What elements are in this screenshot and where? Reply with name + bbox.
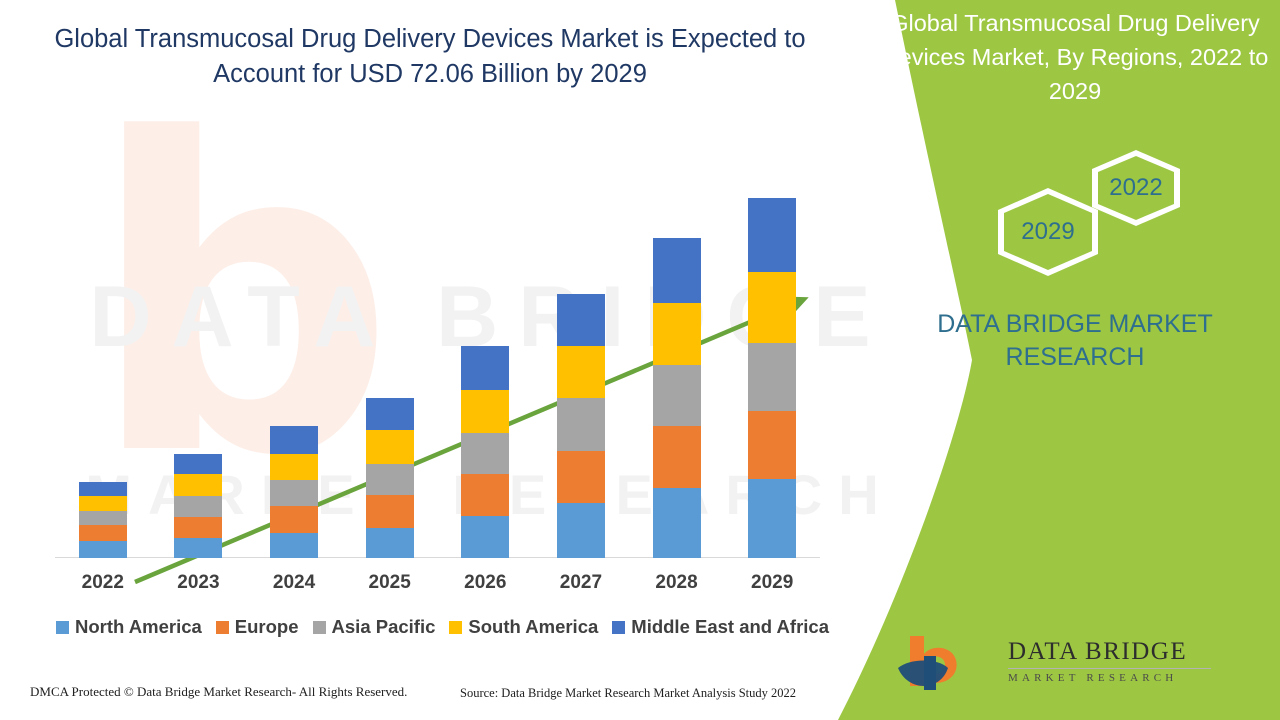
bar-segment — [270, 506, 318, 533]
bar-column — [461, 346, 509, 558]
legend-label: Europe — [235, 616, 299, 638]
x-axis-label: 2028 — [629, 572, 725, 594]
bar-column — [653, 238, 701, 558]
bar-segment — [653, 303, 701, 365]
bar-segment — [557, 346, 605, 398]
bar-column — [748, 198, 796, 558]
x-axis-label: 2027 — [533, 572, 629, 594]
bar-column — [557, 294, 605, 558]
legend-item: North America — [56, 616, 202, 638]
bar-segment — [270, 480, 318, 506]
bar-segment — [174, 517, 222, 538]
bar-segment — [366, 464, 414, 495]
bar-segment — [174, 538, 222, 558]
bar-segment — [461, 390, 509, 433]
bar-segment — [79, 496, 127, 511]
hexagon-badge-2029: 2029 — [998, 188, 1098, 276]
bar-column — [174, 454, 222, 558]
bar-segment — [557, 398, 605, 451]
bar-segment — [653, 426, 701, 488]
legend-item: Middle East and Africa — [612, 616, 829, 638]
panel-title: Global Transmucosal Drug Delivery Device… — [880, 6, 1270, 108]
bar-column — [270, 426, 318, 558]
hexagon-badge-2022: 2022 — [1092, 150, 1180, 226]
bar-segment — [366, 430, 414, 464]
bar-segment — [461, 474, 509, 516]
legend-swatch-icon — [216, 621, 229, 634]
bar-segment — [748, 411, 796, 479]
bar-segment — [557, 294, 605, 346]
bar-segment — [366, 398, 414, 430]
x-axis-label: 2023 — [150, 572, 246, 594]
data-bridge-logo-mark — [890, 630, 1000, 696]
legend-item: South America — [449, 616, 598, 638]
legend-swatch-icon — [313, 621, 326, 634]
legend-item: Europe — [216, 616, 299, 638]
x-axis-label: 2026 — [437, 572, 533, 594]
bar-segment — [653, 238, 701, 303]
bar-segment — [748, 343, 796, 411]
logo-divider — [1008, 668, 1211, 669]
legend-label: North America — [75, 616, 202, 638]
bar-segment — [748, 198, 796, 272]
bar-segment — [270, 454, 318, 480]
data-bridge-logo-text: DATA BRIDGE MARKET RESEARCH — [1008, 638, 1211, 684]
infographic-canvas: b DATA BRIDGE MARKET RESEARCH Global Tra… — [0, 0, 1280, 720]
bar-segment — [174, 454, 222, 474]
panel-brand-name: DATA BRIDGE MARKET RESEARCH — [890, 308, 1260, 374]
bar-segment — [653, 488, 701, 558]
bar-segment — [748, 479, 796, 558]
chart-legend: North AmericaEuropeAsia PacificSouth Ame… — [55, 616, 830, 638]
legend-swatch-icon — [612, 621, 625, 634]
bar-segment — [270, 533, 318, 558]
legend-label: South America — [468, 616, 598, 638]
bar-segment — [748, 272, 796, 343]
bar-segment — [79, 511, 127, 525]
footer-source: Source: Data Bridge Market Research Mark… — [460, 686, 796, 701]
bar-segment — [557, 503, 605, 558]
bar-segment — [461, 346, 509, 390]
chart-x-axis: 20222023202420252026202720282029 — [55, 572, 820, 600]
bar-column — [366, 398, 414, 558]
legend-item: Asia Pacific — [313, 616, 436, 638]
legend-swatch-icon — [56, 621, 69, 634]
logo-line1: DATA BRIDGE — [1008, 638, 1211, 666]
x-axis-label: 2029 — [724, 572, 820, 594]
data-bridge-logo: DATA BRIDGE MARKET RESEARCH — [890, 630, 1270, 700]
bar-segment — [366, 528, 414, 558]
footer-copyright: DMCA Protected © Data Bridge Market Rese… — [30, 684, 407, 700]
chart-bars — [55, 150, 820, 558]
bar-segment — [461, 516, 509, 558]
hexagon-2022-label: 2022 — [1109, 174, 1162, 202]
bar-column — [79, 482, 127, 558]
legend-swatch-icon — [449, 621, 462, 634]
bar-segment — [653, 365, 701, 426]
legend-label: Middle East and Africa — [631, 616, 829, 638]
bar-segment — [461, 433, 509, 474]
page-title: Global Transmucosal Drug Delivery Device… — [40, 22, 820, 92]
green-panel-content: Global Transmucosal Drug Delivery Device… — [870, 0, 1280, 720]
bar-segment — [557, 451, 605, 503]
bar-segment — [366, 495, 414, 528]
bar-segment — [79, 541, 127, 558]
bar-segment — [79, 525, 127, 541]
logo-line2: MARKET RESEARCH — [1008, 672, 1211, 684]
x-axis-label: 2025 — [342, 572, 438, 594]
legend-label: Asia Pacific — [332, 616, 436, 638]
x-axis-label: 2022 — [55, 572, 151, 594]
x-axis-label: 2024 — [246, 572, 342, 594]
bar-segment — [174, 474, 222, 496]
bar-segment — [79, 482, 127, 496]
bar-segment — [174, 496, 222, 517]
bar-segment — [270, 426, 318, 454]
hexagon-2029-label: 2029 — [1021, 218, 1074, 246]
